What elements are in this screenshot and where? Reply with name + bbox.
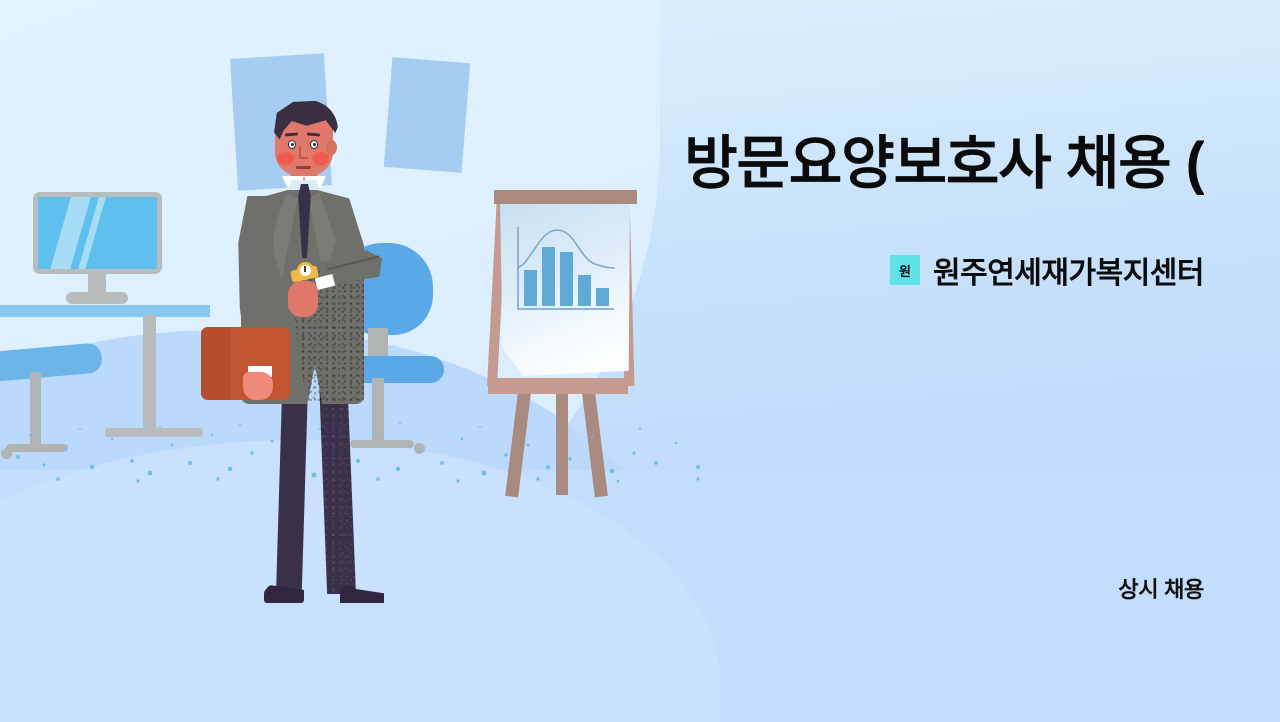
ear: [326, 140, 337, 155]
easel-head: [494, 190, 637, 204]
hiring-status-note: 상시 채용: [1118, 572, 1204, 604]
desk-leg: [143, 315, 156, 435]
cheek-blush-left: [277, 152, 294, 165]
briefcase-shadow: [201, 327, 231, 400]
office-chair-right-wheel: [414, 443, 425, 454]
text-panel: 방문요양보호사 채용 ( 원 원주연세재가복지센터 상시 채용: [640, 0, 1280, 722]
hand-right: [288, 281, 318, 317]
wall-poster-small: [384, 57, 470, 173]
desk-foot: [105, 428, 203, 437]
desk-surface: [0, 305, 210, 317]
company-badge-icon: 원: [890, 255, 920, 285]
office-chair-left-wheel: [1, 448, 12, 459]
wristwatch-hand: [304, 266, 306, 272]
office-chair-right-post: [372, 378, 384, 446]
nose: [299, 146, 308, 159]
easel-leg: [556, 385, 568, 495]
monitor-base: [66, 292, 128, 304]
easel-chart-sheet: [500, 200, 630, 376]
mouth: [296, 166, 311, 169]
office-chair-left-foot: [6, 444, 68, 452]
finger: [250, 391, 265, 397]
cheek-blush-right: [312, 152, 329, 165]
chart-x-axis: [517, 308, 614, 310]
pupil-right: [313, 143, 316, 146]
monitor-screen: [38, 197, 157, 269]
chart-bar: [596, 288, 609, 306]
job-title: 방문요양보호사 채용 (: [640, 130, 1204, 198]
company-name[interactable]: 원주연세재가복지센터: [933, 248, 1204, 292]
recruitment-poster: 방문요양보호사 채용 ( 원 원주연세재가복지센터 상시 채용: [0, 0, 1280, 722]
office-chair-right-foot: [350, 440, 414, 448]
chart-trend-curve: [517, 224, 615, 284]
pupil-left: [291, 143, 294, 146]
monitor-neck: [88, 272, 106, 294]
finger: [250, 384, 265, 390]
office-chair-left-post: [30, 372, 41, 450]
easel-tray: [488, 378, 628, 394]
company-row[interactable]: 원 원주연세재가복지센터: [890, 248, 1204, 292]
